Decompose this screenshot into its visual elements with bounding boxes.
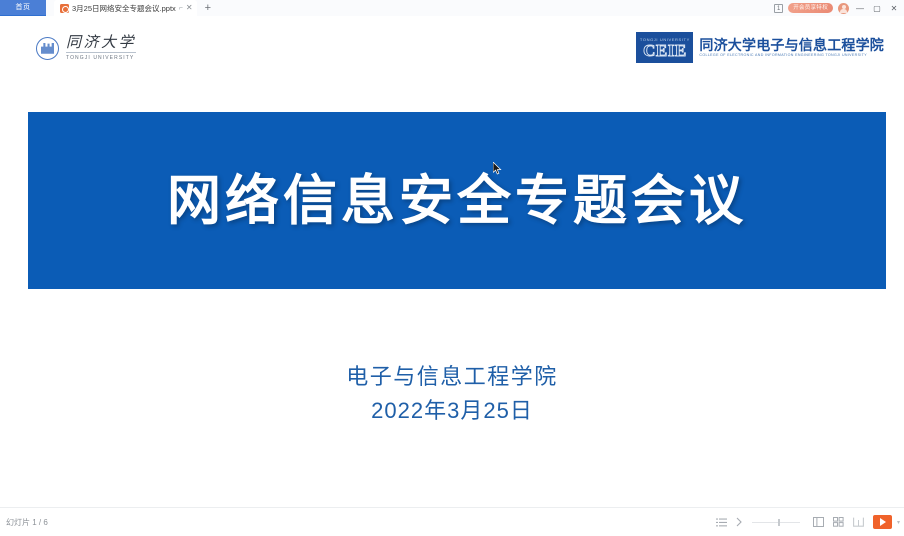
pptx-icon — [60, 4, 69, 13]
tongji-logo-cn: 同济大学 — [66, 36, 136, 51]
document-tab[interactable]: 3月25日网络安全专题会议.pptx ⌐ ✕ — [54, 0, 197, 16]
subtitle-organization: 电子与信息工程学院 — [0, 360, 904, 394]
ceie-badge-acronym: CEIE — [643, 42, 687, 59]
close-icon[interactable]: ✕ — [186, 4, 193, 12]
vip-badge[interactable]: 开会员享特权 — [788, 3, 833, 13]
title-banner[interactable]: 网络信息安全专题会议 — [28, 112, 886, 289]
view-grid-icon[interactable] — [833, 517, 844, 527]
tab-bar: 首页 3月25日网络安全专题会议.pptx ⌐ ✕ + 1 开会员享特权 — ▢… — [0, 0, 904, 16]
zoom-slider[interactable] — [752, 522, 804, 523]
slide-title: 网络信息安全专题会议 — [167, 174, 747, 228]
slide-canvas[interactable]: 同济大学 TONGJI UNIVERSITY TONGJI UNIVERSITY… — [0, 26, 904, 507]
subtitle-block[interactable]: 电子与信息工程学院 2022年3月25日 — [0, 360, 904, 428]
home-tab[interactable]: 首页 — [0, 0, 46, 16]
avatar[interactable] — [838, 3, 849, 14]
play-icon — [880, 518, 886, 526]
tongji-university-logo: 同济大学 TONGJI UNIVERSITY — [36, 36, 136, 61]
ceie-badge: TONGJI UNIVERSITY CEIE — [636, 32, 693, 63]
slide-counter: 幻灯片 1 / 6 — [6, 517, 48, 528]
document-tab-title: 3月25日网络安全专题会议.pptx — [72, 3, 176, 14]
view-normal-icon[interactable] — [813, 517, 824, 527]
outline-list-icon[interactable] — [716, 518, 727, 527]
chevron-right-icon[interactable] — [736, 517, 743, 527]
ceie-college-logo: TONGJI UNIVERSITY CEIE 同济大学电子与信息工程学院 COL… — [636, 32, 884, 63]
tongji-logo-en: TONGJI UNIVERSITY — [66, 52, 136, 61]
wps-presentation-window: 首页 3月25日网络安全专题会议.pptx ⌐ ✕ + 1 开会员享特权 — ▢… — [0, 0, 904, 536]
zoom-handle[interactable] — [778, 519, 780, 526]
toolbar-strip — [0, 16, 904, 26]
ceie-logo-en: COLLEGE OF ELECTRONIC AND INFORMATION EN… — [699, 54, 884, 58]
view-reading-icon[interactable] — [853, 517, 864, 527]
status-bar-right: ▾ — [716, 515, 900, 529]
tongji-seal-icon — [36, 37, 59, 60]
maximize-button[interactable]: ▢ — [871, 4, 883, 13]
play-slideshow-button[interactable] — [873, 515, 892, 529]
window-close-button[interactable]: ✕ — [888, 4, 900, 13]
zoom-track[interactable] — [752, 522, 800, 523]
play-dropdown-caret[interactable]: ▾ — [897, 519, 900, 526]
ceie-logo-cn: 同济大学电子与信息工程学院 — [699, 38, 884, 52]
new-tab-button[interactable]: + — [205, 0, 211, 16]
titlebar-right-controls: 1 开会员享特权 — ▢ ✕ — [774, 0, 900, 16]
status-bar: 幻灯片 1 / 6 — [0, 507, 904, 536]
notification-icon[interactable]: 1 — [774, 4, 783, 13]
pin-icon[interactable]: ⌐ — [179, 5, 183, 12]
minimize-button[interactable]: — — [854, 4, 866, 13]
subtitle-date: 2022年3月25日 — [0, 394, 904, 428]
